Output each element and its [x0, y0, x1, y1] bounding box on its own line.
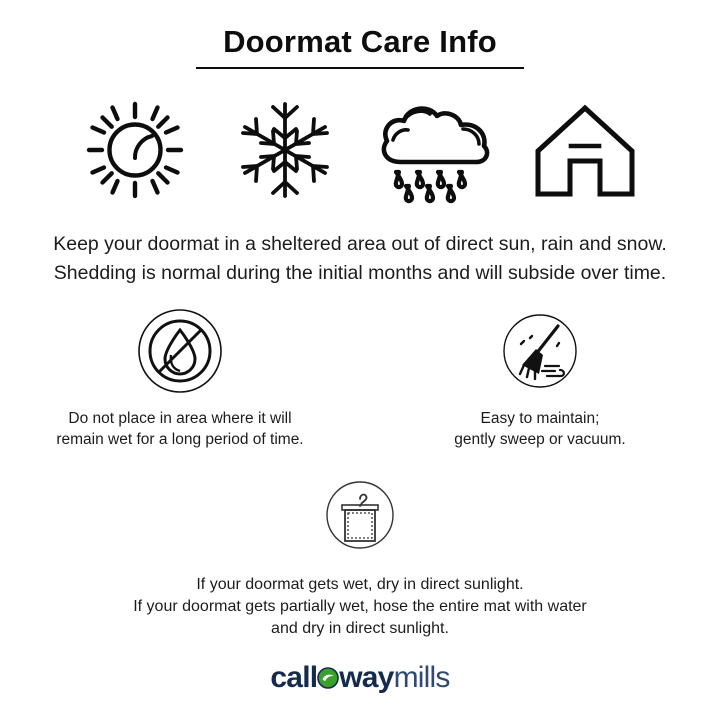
intro-line-2: Shedding is normal during the initial mo…	[0, 259, 720, 288]
intro-line-1: Keep your doormat in a sheltered area ou…	[0, 230, 720, 259]
dry-instructions-caption: If your doormat gets wet, dry in direct …	[133, 574, 587, 640]
tip-1-line-1: Do not place in area where it will	[56, 408, 303, 429]
tips-row: Do not place in area where it will remai…	[0, 308, 720, 450]
intro-paragraph: Keep your doormat in a sheltered area ou…	[0, 230, 720, 288]
snowflake-icon	[233, 98, 337, 207]
no-water-icon	[137, 308, 223, 394]
dry-line-3: and dry in direct sunlight.	[133, 618, 587, 640]
weather-icon-row	[60, 96, 660, 208]
house-shelter-icon	[529, 99, 641, 206]
title-underline	[196, 67, 524, 69]
tip-2-line-1: Easy to maintain;	[454, 408, 625, 429]
broom-sweep-icon	[497, 308, 583, 394]
page-title-block: Doormat Care Info	[0, 22, 720, 69]
green-circle-o-icon	[317, 663, 339, 685]
tip-no-standing-water: Do not place in area where it will remai…	[0, 308, 360, 450]
tip-1-line-2: remain wet for a long period of time.	[56, 429, 303, 450]
logo-text-way: way	[339, 661, 393, 695]
sun-icon	[79, 94, 191, 211]
rain-cloud-icon	[375, 96, 495, 209]
page-title: Doormat Care Info	[0, 22, 720, 62]
weather-cell-sun	[60, 96, 210, 208]
logo-text-mills: mills	[394, 661, 450, 695]
dry-line-2: If your doormat gets partially wet, hose…	[133, 596, 587, 618]
tip-2-line-2: gently sweep or vacuum.	[454, 429, 625, 450]
weather-cell-rain	[360, 96, 510, 208]
brand-logo: call way mills	[0, 655, 720, 701]
tip-easy-maintain: Easy to maintain; gently sweep or vacuum…	[360, 308, 720, 450]
dry-instructions: If your doormat gets wet, dry in direct …	[0, 472, 720, 640]
weather-cell-snow	[210, 96, 360, 208]
hang-to-dry-icon	[317, 472, 403, 558]
calloway-mills-logo: call way mills	[270, 661, 449, 695]
weather-cell-shelter	[510, 96, 660, 208]
tip-easy-maintain-caption: Easy to maintain; gently sweep or vacuum…	[454, 408, 625, 450]
doormat-care-info-page: Doormat Care Info	[0, 0, 720, 720]
dry-line-1: If your doormat gets wet, dry in direct …	[133, 574, 587, 596]
tip-no-standing-water-caption: Do not place in area where it will remai…	[56, 408, 303, 450]
logo-text-call: call	[270, 661, 317, 695]
